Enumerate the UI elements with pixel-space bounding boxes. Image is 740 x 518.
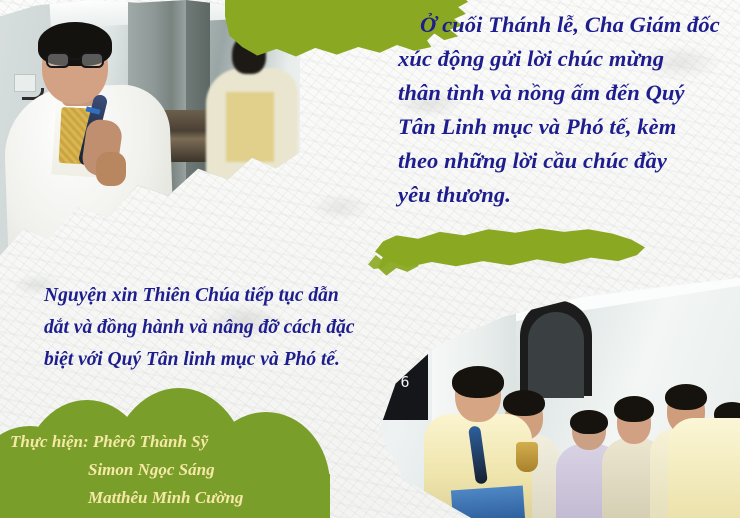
paragraph-line: Nguyện xin Thiên Chúa tiếp tục dẫn <box>44 280 414 312</box>
paragraph-line: dắt và đồng hành và nâng đỡ cách đặc <box>44 312 414 344</box>
main-paragraph-top: Ở cuối Thánh lễ, Cha Giám đốc xúc động g… <box>398 8 728 212</box>
paragraph-line: yêu thương. <box>398 178 728 212</box>
glasses-left-lens <box>46 52 70 68</box>
credit-line-1: Thực hiện: Phêrô Thành Sỹ <box>10 428 310 456</box>
paragraph-line: theo những lời cầu chúc đầy <box>398 144 728 178</box>
chalice <box>516 442 538 472</box>
priest-glasses-icon <box>46 52 104 68</box>
paragraph-line: Ở cuối Thánh lễ, Cha Giám đốc <box>398 8 728 42</box>
main-paragraph-middle: Nguyện xin Thiên Chúa tiếp tục dẫn dắt v… <box>44 280 414 376</box>
hair <box>614 396 654 422</box>
priest-hand-lower <box>96 152 126 186</box>
vestment <box>668 418 740 518</box>
glasses-right-lens <box>80 52 104 68</box>
paragraph-line: biệt với Quý Tân linh mục và Phó tế. <box>44 344 414 376</box>
paragraph-line: Tân Linh mục và Phó tế, kèm <box>398 110 728 144</box>
credit-line-3: Matthêu Minh Cường <box>10 484 310 512</box>
hair <box>452 366 504 398</box>
glasses-bridge <box>70 58 80 60</box>
credit-line-2: Simon Ngọc Sáng <box>10 456 310 484</box>
paragraph-line: xúc động gửi lời chúc mừng <box>398 42 728 76</box>
poster-canvas: 484 G 473 503 576 <box>0 0 740 518</box>
clergy-person-right <box>668 372 740 518</box>
background-person-vestment <box>226 92 274 162</box>
credits-block: Thực hiện: Phêrô Thành Sỹ Simon Ngọc Sán… <box>10 428 310 512</box>
paragraph-line: thân tình và nồng ấm đến Quý <box>398 76 728 110</box>
